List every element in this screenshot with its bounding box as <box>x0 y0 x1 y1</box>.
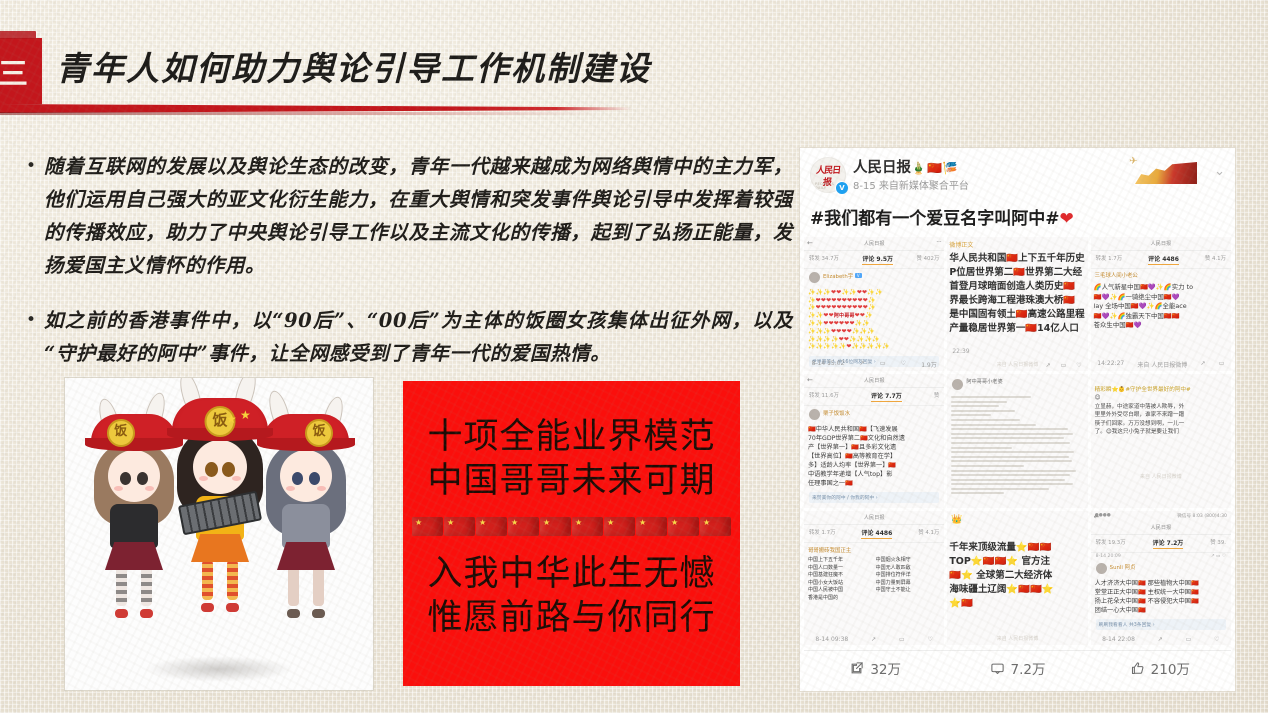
grid-tile[interactable]: ●●●● 微信号 8:03 (800)4:30 ← 人民日报 转发 19.3万 … <box>1091 511 1231 645</box>
tile-status-bar: ← 人民日报 <box>804 374 944 388</box>
tile-line: 中国上下五千年 <box>808 557 873 565</box>
tile-document-lines <box>947 393 1087 500</box>
tile-username: 哥哥搬砖我国正主 <box>804 543 944 555</box>
tile-line: 界最长跨海工程港珠澳大桥🇨🇳 <box>949 294 1085 308</box>
doc-line <box>951 410 1015 412</box>
tile-tab-like: 赞 402万 <box>917 254 940 265</box>
eye <box>309 472 320 485</box>
tile-line: TOP⭐🇨🇳🇨🇳⭐ 官方注 <box>949 555 1085 569</box>
grid-tile[interactable]: ← 人民日报 转发 11.6万 评论 7.7万 赞 栗子饭饭水 🇨🇳中华人民共和… <box>804 374 944 508</box>
skirt <box>191 534 249 562</box>
heart-icon: ❤ <box>1060 209 1074 229</box>
skirt <box>105 542 163 570</box>
legs <box>114 566 154 612</box>
tile-username: 栗子饭饭水 <box>823 409 850 420</box>
tile-reply-hint[interactable]: 来赞美你的阿中 / 你我的阿中 › <box>809 492 939 503</box>
tile-username: 三毛球人间小老公 <box>1091 269 1231 281</box>
blush <box>317 486 326 491</box>
heart-mosaic-art: ✨✨✨❤❤✨✨❤❤✨✨ ✨❤❤❤❤❤❤❤❤❤❤✨ ✨❤❤❤❤❤❤❤❤❤❤✨ ✨✨… <box>804 286 944 354</box>
tile-body-text: 华人民共和国🇨🇳上下五千年历史 P位居世界第二🇨🇳世界第二大经 首登月球暗面创造… <box>947 249 1087 339</box>
doc-line <box>951 470 1075 472</box>
comment-count: 7.2万 <box>1011 658 1046 678</box>
comment-icon <box>990 661 1005 676</box>
illustration-figure-center: 饭 ★ ★ <box>164 402 276 664</box>
china-flag-icon <box>476 517 507 536</box>
account-name[interactable]: 人民日报🎍🇨🇳🎏 <box>853 156 959 177</box>
blush <box>114 486 123 491</box>
star-icon: ★ <box>240 408 251 423</box>
tile-line: 堂堂正正大中国🇨🇳 主权统一大中国🇨🇳 <box>1095 588 1227 597</box>
tile-body-text: 精彩瞬⭐👶#守护全世界最好的阿中# 😊 立显赫，中途家道中落被人欺辱，外 里里外… <box>1091 374 1231 438</box>
like-button[interactable]: 210万 <box>1089 658 1231 678</box>
shoe <box>201 603 214 612</box>
tile-line: 中国基建狂魔不 <box>808 572 873 580</box>
tile-username: Sunli 阿贞 <box>1110 563 1136 574</box>
tile-line: 了。😊我这只小兔子就是要让我们 <box>1095 428 1227 436</box>
tile-header-title: 人民日报 <box>1150 524 1171 531</box>
like-icon: ♡ <box>1076 362 1081 369</box>
shoe <box>226 603 239 612</box>
leg <box>288 566 299 606</box>
doc-line <box>951 479 1065 481</box>
tile-icons: ↗ ▭ ♡ <box>1211 554 1226 559</box>
tile-line: 😊 <box>1095 394 1227 402</box>
comment-icon: ▭ <box>880 360 886 369</box>
tile-line: 苍众生中国🇨🇳💜 <box>1094 321 1228 331</box>
tile-phone-status-bar: ●●●● 微信号 8:03 (800)4:30 <box>1091 511 1231 521</box>
china-flag-icon <box>412 517 443 536</box>
section-number-text: 三 <box>0 49 28 93</box>
tile-header-title: 人民日报 <box>864 514 885 521</box>
comment-icon: ▭ <box>899 636 905 643</box>
tile-avatar <box>809 272 820 283</box>
tile-sub-time: 8-14 20:09 <box>1096 554 1121 559</box>
post-meta: 8-15 来自新媒体聚合平台 <box>853 177 969 192</box>
doc-line <box>951 451 1074 453</box>
bullet-marker: • <box>18 150 44 182</box>
tile-tab-like: 赞 <box>934 391 939 402</box>
share-button[interactable]: 32万 <box>804 658 946 678</box>
eye <box>222 462 235 477</box>
comment-icon: ▭ <box>1061 362 1067 369</box>
tile-line: 团结一心大中国🇨🇳 <box>1095 606 1227 615</box>
account-name-emojis: 🎍🇨🇳🎏 <box>911 161 959 175</box>
tile-line: ⭐🇨🇳 <box>949 597 1085 611</box>
tile-tabs: 转发 34.7万 评论 9.5万 赞 402万 <box>804 251 944 269</box>
torso <box>110 504 158 548</box>
doc-line <box>951 488 1049 490</box>
chevron-down-icon[interactable]: ⌄ <box>1214 164 1225 179</box>
tile-username: 阿中哥哥小老婆 <box>966 379 1002 390</box>
back-icon: ← <box>1094 513 1100 521</box>
doc-line <box>951 414 991 416</box>
doc-line <box>951 456 1069 458</box>
tile-header-title: 人民日报 <box>1150 240 1171 247</box>
tile-line: 产【世界第一】🇨🇳且多彩文化遗 <box>808 443 940 452</box>
tile-tabs: 转发 1.7万 评论 4486 赞 4.1万 <box>1091 251 1231 269</box>
tile-line: 筷子们回家。万万没想到啊，一儿一 <box>1095 420 1227 428</box>
like-icon <box>1130 661 1145 676</box>
tile-tab-like: 赞 39. <box>1210 538 1226 549</box>
crown-icon: 👑 <box>947 511 1087 525</box>
tile-tab-repost: 转发 11.6万 <box>809 391 839 402</box>
doc-line <box>951 424 1036 426</box>
tile-line: 🇨🇳💜✨🌈独霸天下中国🇨🇳🇨🇳 <box>1094 312 1228 322</box>
tile-footer: 8-14 22:08 ↗ ▭ ♡ <box>1091 636 1231 643</box>
more-icon: ··· <box>936 238 941 246</box>
great-wall-shape <box>1135 162 1197 184</box>
tile-line: 立显赫，中途家道中落被人欺辱，外 <box>1095 403 1227 411</box>
star-icon: ★ <box>226 412 237 427</box>
tile-line: 产量稳居世界第一🇨🇳14亿人口 <box>949 322 1085 336</box>
tile-time: 14:22:27 <box>1097 360 1124 369</box>
poster-bottom-block: 入我中华此生无憾 惟愿前路与你同行 <box>427 552 715 640</box>
shoe <box>140 609 153 618</box>
poster-top-block: 十项全能业界模范 中国哥哥未来可期 <box>427 415 715 503</box>
weibo-post-header: 人民日报 PEOPLE'S DAILY V 人民日报🎍🇨🇳🎏 8-15 来自新媒… <box>800 148 1235 202</box>
cap-badge-fan: 饭 <box>107 419 135 447</box>
doc-line <box>951 447 1012 449</box>
tile-line: 【世界高位】🇨🇳高等教育在学】 <box>808 452 940 461</box>
grid-tile[interactable]: 阿中哥哥小老婆 <box>947 374 1087 508</box>
like-icon: ♡ <box>1214 636 1219 643</box>
couplet-left: 中国上下五千年 中国人口数量一 中国基建狂魔不 中国小女大饭站 中国人民被中国 … <box>808 557 873 603</box>
comment-icon: ▭ <box>1186 636 1192 643</box>
china-flag-icon <box>668 517 699 536</box>
tile-line: 是中国固有领土🇨🇳高速公路里程 <box>949 308 1085 322</box>
tile-couplet: 中国上下五千年 中国人口数量一 中国基建狂魔不 中国小女大饭站 中国人民被中国 … <box>804 555 944 605</box>
tile-foot-time: 8-14 09:38 <box>815 636 848 643</box>
tile-line: 海味疆土辽阔⭐🇨🇳🇨🇳⭐ <box>949 583 1085 597</box>
tile-body-text: 🌈人气新星中国🇨🇳💜✨🌈实力 to 🇨🇳💜✨🌈一骑绝尘中国🇨🇳💜 lay 全场中… <box>1091 281 1231 333</box>
blush <box>286 486 295 491</box>
slide-header: 三 青年人如何助力舆论引导工作机制建设 <box>0 38 760 108</box>
couplet-right: 中国烟火永相守 中国无人敢匹敌 中国排位符伴洋 中国力量到屏幕 中国守土不能让 <box>876 557 941 603</box>
tile-line: 🇨🇳⭐ 全球第二大经济体 <box>949 569 1085 583</box>
hashtag-text: #我们都有一个爱豆名字叫阿中# <box>810 209 1060 229</box>
tile-line: 中国人民被中国 <box>808 587 873 595</box>
shoe <box>312 609 325 618</box>
poster-line: 入我中华此生无憾 <box>427 552 715 596</box>
china-flag-icon <box>444 517 475 536</box>
doc-line <box>951 442 1070 444</box>
tile-tab-repost: 转发 1.7万 <box>1096 254 1122 265</box>
doc-line <box>951 460 1071 462</box>
tile-footer: ↗ ▭ ♡ <box>947 362 1087 369</box>
doc-line <box>951 433 1073 435</box>
tile-line: 首登月球暗面创造人类历史🇨🇳 <box>949 280 1085 294</box>
verified-badge-icon: V <box>855 273 862 278</box>
tile-line: P位居世界第二🇨🇳世界第二大经 <box>949 266 1085 280</box>
weibo-post-card: 人民日报 PEOPLE'S DAILY V 人民日报🎍🇨🇳🎏 8-15 来自新媒… <box>800 148 1235 691</box>
leg <box>313 566 324 606</box>
share-count: 32万 <box>870 658 901 678</box>
blush <box>145 486 154 491</box>
doc-line <box>951 396 1030 398</box>
red-slogan-poster: 十项全能业界模范 中国哥哥未来可期 入我中华此生无憾 惟愿前路与你同行 <box>403 381 740 686</box>
skirt <box>277 542 335 570</box>
like-icon: ♡ <box>901 360 906 369</box>
doc-line <box>951 465 1024 467</box>
tile-line: 千年来顶级流量⭐🇨🇳🇨🇳 <box>949 541 1085 555</box>
tile-line: 华人民共和国🇨🇳上下五千年历史 <box>949 252 1085 266</box>
tile-line: 中国守土不能让 <box>876 587 941 595</box>
tile-status-bar: 人民日报 <box>804 511 944 525</box>
tile-line: 扬上花朵大中国🇨🇳 不容侵犯大中国🇨🇳 <box>1095 597 1227 606</box>
tile-tabs: 转发 19.3万 评论 7.2万 赞 39. <box>1091 535 1231 553</box>
grid-tile[interactable]: 人民日报 转发 1.7万 评论 4486 赞 4.1万 哥哥搬砖我国正主 中国上… <box>804 511 944 645</box>
tile-username: Elizabeth宇 V <box>823 272 862 283</box>
grid-tile[interactable]: ← 人民日报 ··· 转发 34.7万 评论 9.5万 赞 402万 Eliza… <box>804 237 944 371</box>
tile-user-row: Sunli 阿贞 <box>1091 560 1231 577</box>
share-icon: ↗ <box>871 636 876 643</box>
tile-tab-comment: 评论 9.5万 <box>862 254 893 265</box>
tile-line: 人才济济大中国🇨🇳 那些植物大中国🇨🇳 <box>1095 579 1227 588</box>
blush <box>232 476 241 481</box>
tile-tab-repost: 转发 34.7万 <box>809 254 839 265</box>
tile-line: 70年GDP世界第二🇨🇳文化和自然遗 <box>808 434 940 443</box>
tile-line: 中国排位符伴洋 <box>876 572 941 580</box>
status-right-text: 微信号 8:03 (800)4:30 <box>1177 513 1227 519</box>
back-icon: ← <box>807 239 813 247</box>
body-content: • 随着互联网的发展以及舆论生态的改变，青年一代越来越成为网络舆情中的主力军，他… <box>18 150 793 392</box>
tile-tab-like: 赞 4.1万 <box>1205 254 1226 265</box>
tile-subtime-row: 8-14 20:09 ↗ ▭ ♡ <box>1091 553 1231 560</box>
tile-header-title: 人民日报 <box>864 240 885 247</box>
slide-canvas: 三 青年人如何助力舆论引导工作机制建设 • 随着互联网的发展以及舆论生态的改变，… <box>0 0 1268 713</box>
leg <box>141 566 152 606</box>
grid-tile[interactable]: 微博正文 华人民共和国🇨🇳上下五千年历史 P位居世界第二🇨🇳世界第二大经 首登月… <box>947 237 1087 371</box>
tile-tabs: 转发 1.7万 评论 4486 赞 4.1万 <box>804 525 944 543</box>
post-timestamp: 8-15 <box>853 181 876 192</box>
post-source: 来自新媒体聚合平台 <box>879 181 969 192</box>
face <box>108 450 160 502</box>
torso <box>282 504 330 548</box>
doc-line <box>951 401 1007 403</box>
tile-tab-comment: 评论 4486 <box>1148 254 1179 265</box>
share-icon: ↗ <box>860 360 865 369</box>
tile-tab-repost: 转发 1.7万 <box>809 528 835 539</box>
doc-line <box>951 437 1063 439</box>
tile-header-title: 人民日报 <box>864 377 885 384</box>
tile-avatar <box>1096 563 1107 574</box>
poster-line: 惟愿前路与你同行 <box>427 596 715 640</box>
tile-tab-comment: 评论 7.2万 <box>1153 538 1184 549</box>
eye <box>292 472 303 485</box>
tile-footer: 14:22:27 来自 人民日报微博 ↗ ▭ <box>1091 360 1231 369</box>
tile-body-text: 千年来顶级流量⭐🇨🇳🇨🇳 TOP⭐🇨🇳🇨🇳⭐ 官方注 🇨🇳⭐ 全球第二大经济体 … <box>947 525 1087 614</box>
legs <box>200 560 240 606</box>
tile-line: 多】适龄人均率【世界第一】🇨🇳 <box>808 461 940 470</box>
tile-reply-hint[interactable]: 刷刷我看看人 共3条回复 › <box>1096 619 1226 630</box>
share-icon: ↗ <box>1046 362 1051 369</box>
shoe <box>115 609 128 618</box>
legs <box>286 566 326 612</box>
eye <box>205 462 218 477</box>
avatar-logo-text: 人民日报 <box>813 165 842 179</box>
tile-line: lay 全场中国🇨🇳💜✨🌈全能ace <box>1094 302 1228 312</box>
section-number-badge: 三 <box>0 38 42 104</box>
bullet-marker: • <box>18 304 44 336</box>
china-flag-icon <box>636 517 667 536</box>
china-flag-icon <box>572 517 603 536</box>
tile-foot-time: 8-14 22:08 <box>1102 636 1135 643</box>
doc-line <box>951 419 1020 421</box>
back-icon: ← <box>807 376 813 384</box>
verified-badge-icon: V <box>835 181 849 195</box>
tile-line: 🇨🇳中华人民共和国🇨🇳【飞速发展 <box>808 425 940 434</box>
tile-time: 22:39 <box>952 348 969 355</box>
tile-watermark: 来自 人民日报微博 <box>1137 360 1187 369</box>
tile-watermark: 来自 人民日报微博 <box>1140 473 1182 480</box>
tile-avatar <box>809 409 820 420</box>
tile-line: 🇨🇳💜✨🌈一骑绝尘中国🇨🇳💜 <box>1094 293 1228 303</box>
comment-button[interactable]: 7.2万 <box>946 658 1088 678</box>
bullet-text: 如之前的香港事件中，以“90后”、“00后”为主体的饭圈女孩集体出征外网，以及“… <box>44 304 793 370</box>
tile-line: 香港是中国的 <box>808 595 873 603</box>
tile-watermark: 来自 人民日报微博 <box>997 635 1039 642</box>
cap-badge-fan: 饭 <box>305 419 333 447</box>
tile-body-text: 人才济济大中国🇨🇳 那些植物大中国🇨🇳 堂堂正正大中国🇨🇳 主权统一大中国🇨🇳 … <box>1091 577 1231 617</box>
share-icon <box>849 661 864 676</box>
tile-line: 任理事国之一🇨🇳 <box>808 479 940 488</box>
tile-line: 精彩瞬⭐👶#守护全世界最好的阿中# <box>1095 386 1227 394</box>
eye <box>120 472 131 485</box>
tile-footer: 8-14 09:38 ↗ ▭ ♡ <box>804 636 944 643</box>
tile-status-bar: ← 人民日报 <box>1091 521 1231 535</box>
tile-line: 🌈人气新星中国🇨🇳💜✨🌈实力 to <box>1094 283 1228 293</box>
doc-line <box>951 492 1004 494</box>
share-icon: ↗ <box>1201 360 1206 369</box>
face <box>280 450 332 502</box>
china-flag-icon <box>700 517 731 536</box>
fangirl-illustration: 饭 饭 ★ ★ <box>64 377 374 691</box>
tile-tab-like: 赞 4.1万 <box>918 528 939 539</box>
poster-line: 中国哥哥未来可期 <box>427 459 715 503</box>
tile-body-text: 🇨🇳中华人民共和国🇨🇳【飞速发展 70年GDP世界第二🇨🇳文化和自然遗 产【世界… <box>804 423 944 490</box>
account-name-text: 人民日报 <box>853 160 911 176</box>
tile-username-text: Elizabeth宇 <box>823 274 853 280</box>
great-wall-dove-icon: ✈ <box>1129 154 1203 186</box>
doc-line <box>951 405 999 407</box>
tile-foot-likes: 1.9万 <box>921 360 937 369</box>
china-flag-icon <box>540 517 571 536</box>
tile-user-row: 栗子饭饭水 <box>804 406 944 423</box>
tile-line: 里里外外受尽白眼，谁家不来蹭一蹭 <box>1095 411 1227 419</box>
tile-tab-comment: 评论 7.7万 <box>871 391 902 402</box>
screenshot-grid: ← 人民日报 ··· 转发 34.7万 评论 9.5万 赞 402万 Eliza… <box>800 237 1235 645</box>
leg <box>116 566 127 606</box>
face <box>193 440 247 494</box>
tile-avatar <box>952 379 963 390</box>
grid-tile[interactable]: 人民日报 转发 1.7万 评论 4486 赞 4.1万 三毛球人间小老公 🌈人气… <box>1091 237 1231 371</box>
post-hashtag[interactable]: #我们都有一个爱豆名字叫阿中#❤ <box>800 202 1235 237</box>
china-flag-icon <box>508 517 539 536</box>
leg <box>202 560 213 600</box>
tile-footer: 8-14 15:02 ↗ ▭ ♡ 1.9万 <box>804 360 944 369</box>
like-count: 210万 <box>1151 658 1190 678</box>
dove-icon: ✈ <box>1129 156 1137 167</box>
tile-status-bar: ← 人民日报 ··· <box>804 237 944 251</box>
tile-user-row: Elizabeth宇 V <box>804 269 944 286</box>
doc-line <box>951 428 1067 430</box>
tile-user-row: 阿中哥哥小老婆 <box>947 374 1087 393</box>
tile-line: 中语教学年递增【人气top】影 <box>808 470 940 479</box>
china-flag-icon <box>604 517 635 536</box>
shoe <box>287 609 300 618</box>
tile-tab-repost: 转发 19.3万 <box>1096 538 1126 549</box>
tile-tab-comment: 评论 4486 <box>861 528 892 539</box>
share-icon: ↗ <box>1158 636 1163 643</box>
doc-line <box>951 483 1073 485</box>
eye <box>137 472 148 485</box>
bullet-item: • 随着互联网的发展以及舆论生态的改变，青年一代越来越成为网络舆情中的主力军，他… <box>18 150 793 282</box>
grid-tile[interactable]: 👑 千年来顶级流量⭐🇨🇳🇨🇳 TOP⭐🇨🇳🇨🇳⭐ 官方注 🇨🇳⭐ 全球第二大经济… <box>947 511 1087 645</box>
blush <box>199 476 208 481</box>
like-icon: ♡ <box>927 636 932 643</box>
flag-row <box>412 517 731 536</box>
comment-icon: ▭ <box>1219 360 1225 369</box>
doc-line <box>951 474 1070 476</box>
tile-header-title: 微博正文 <box>947 237 1087 249</box>
page-title: 青年人如何助力舆论引导工作机制建设 <box>56 42 651 90</box>
bullet-item: • 如之前的香港事件中，以“90后”、“00后”为主体的饭圈女孩集体出征外网，以… <box>18 304 793 370</box>
tile-status-bar: 人民日报 <box>1091 237 1231 251</box>
poster-line: 十项全能业界模范 <box>427 415 715 459</box>
title-underline-shadow <box>0 112 600 115</box>
leg <box>227 560 238 600</box>
bullet-text: 随着互联网的发展以及舆论生态的改变，青年一代越来越成为网络舆情中的主力军，他们运… <box>44 150 793 282</box>
tile-line: 中国烟火永相守 <box>876 557 941 565</box>
tile-foot-time: 8-14 15:02 <box>812 360 845 369</box>
weibo-action-bar: 32万 7.2万 210万 <box>804 650 1231 685</box>
tile-tabs: 转发 11.6万 评论 7.7万 赞 <box>804 388 944 406</box>
grid-tile[interactable]: 精彩瞬⭐👶#守护全世界最好的阿中# 😊 立显赫，中途家道中落被人欺辱，外 里里外… <box>1091 374 1231 508</box>
